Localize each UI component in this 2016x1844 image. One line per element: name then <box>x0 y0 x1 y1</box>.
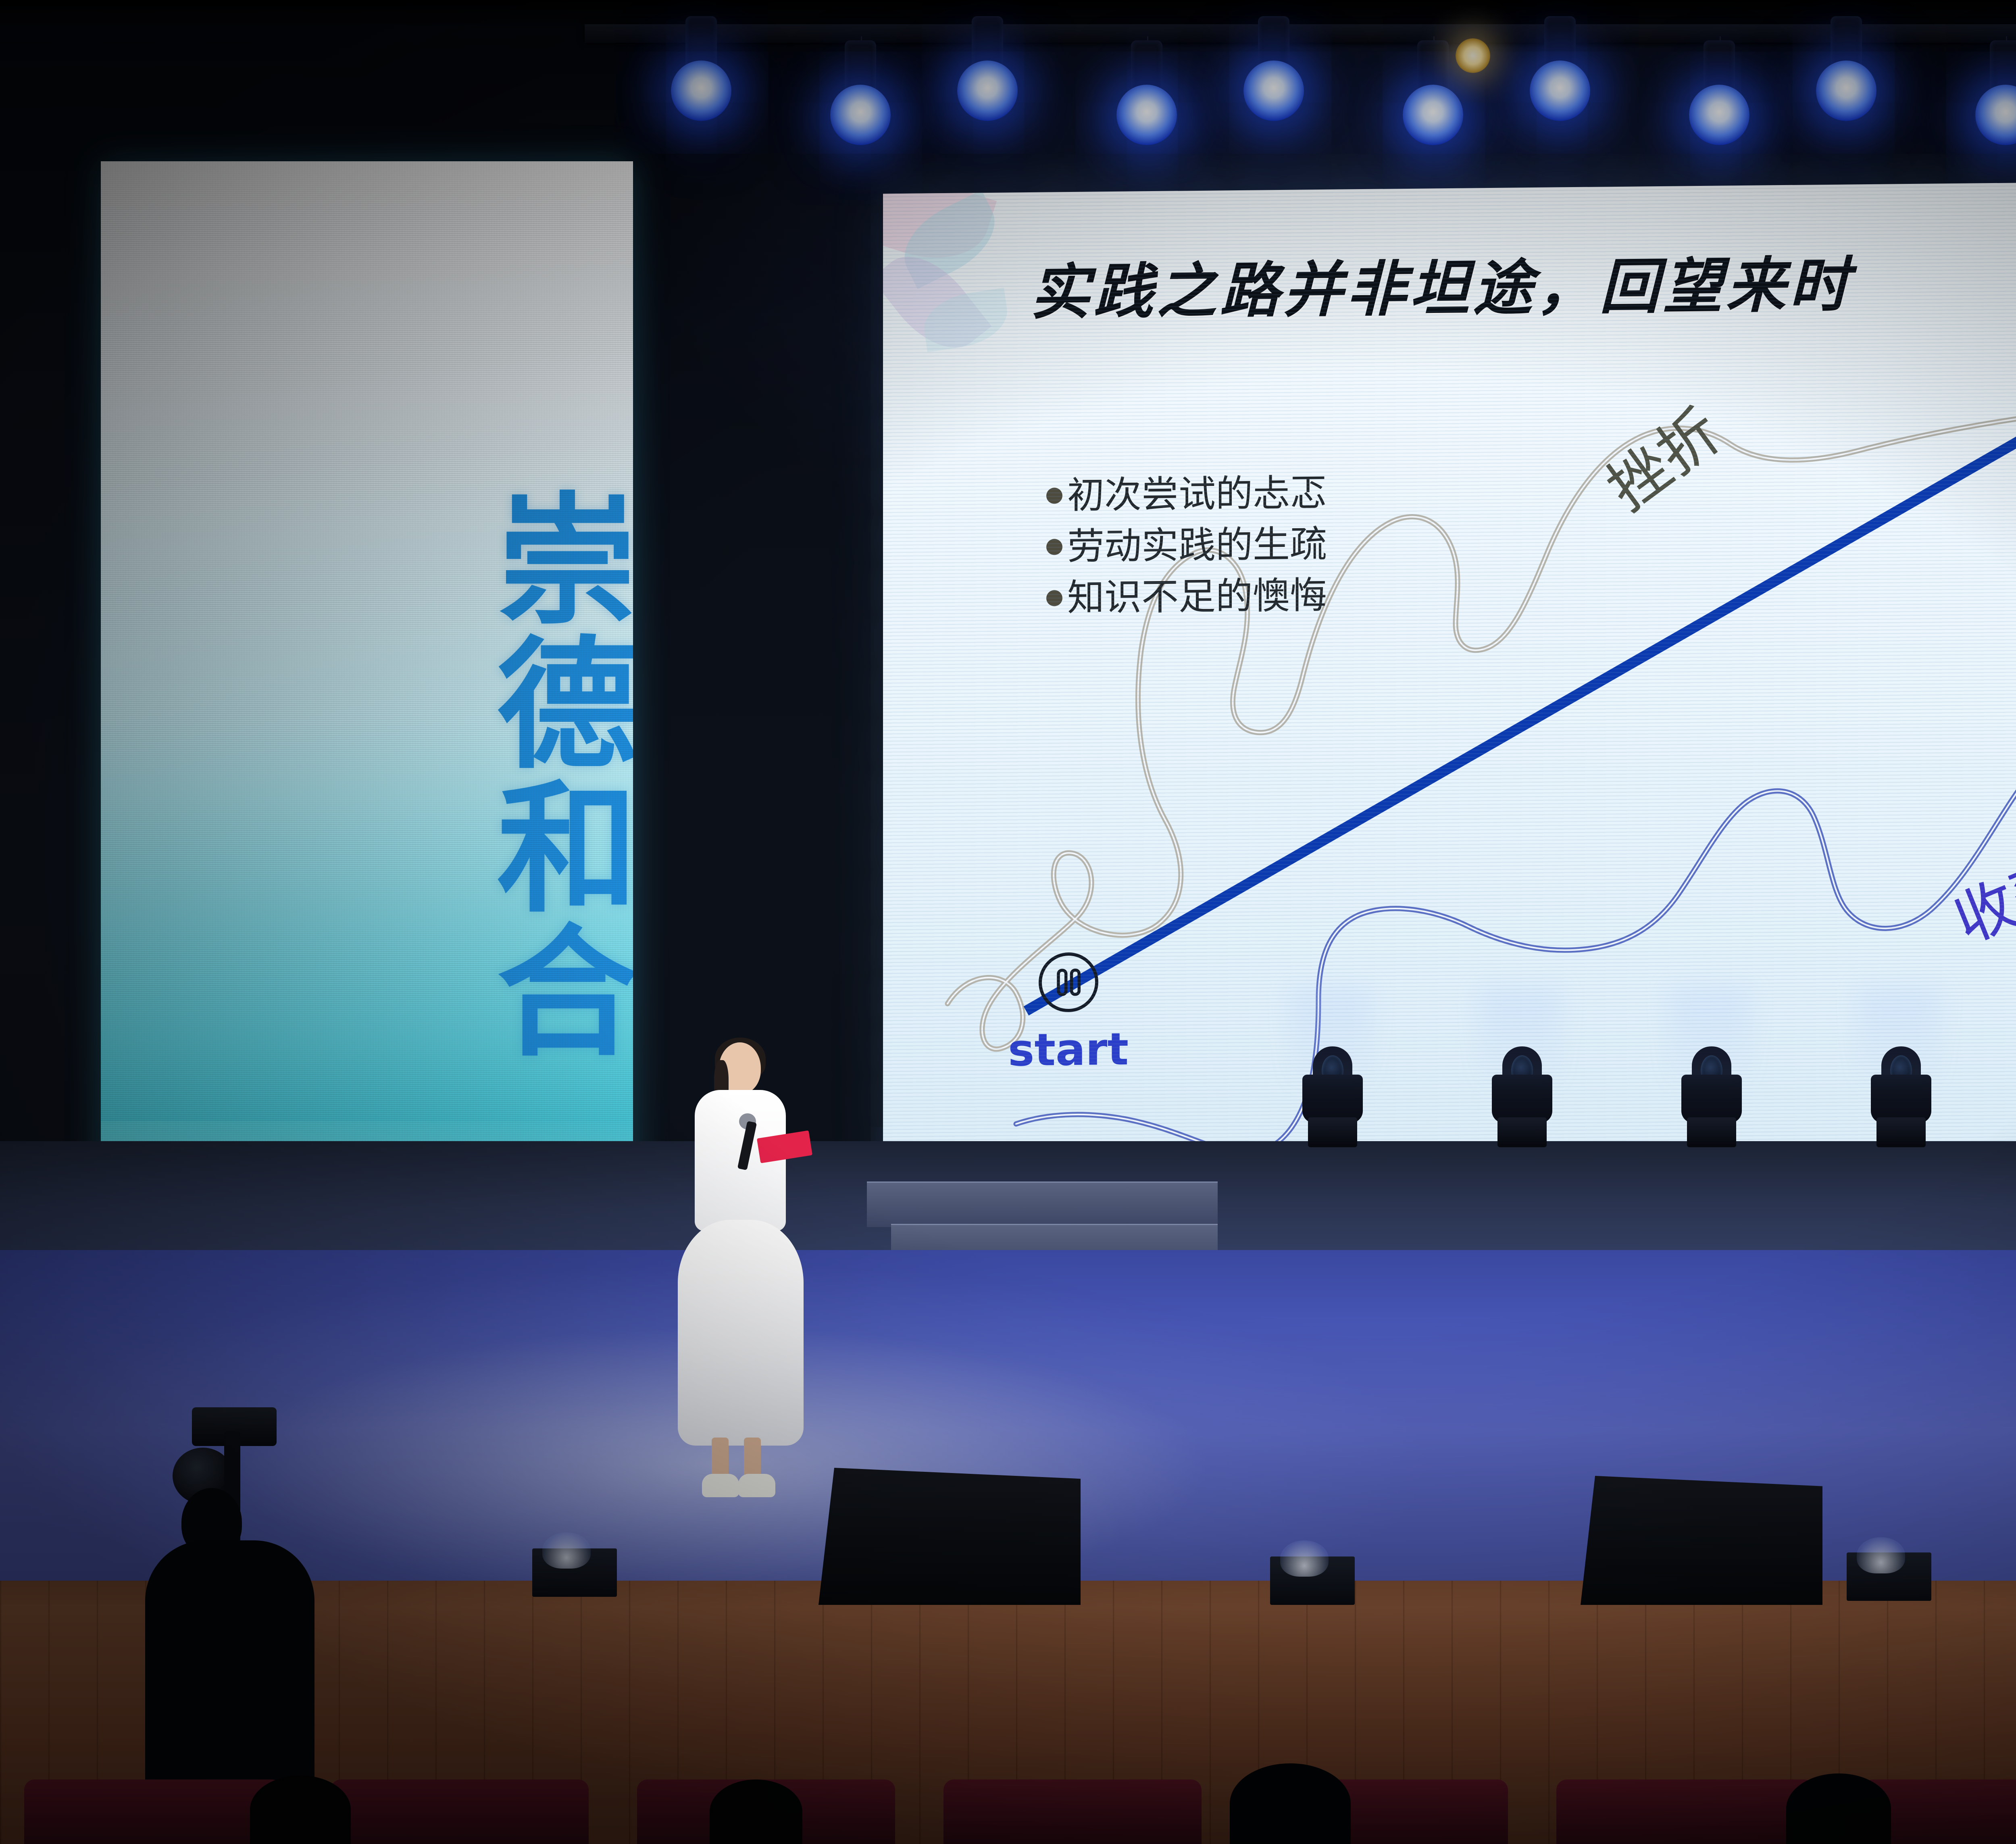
light-yoke <box>1681 1075 1742 1123</box>
moving-head-light <box>1681 1046 1742 1147</box>
overhead-light-rig <box>0 0 2016 169</box>
list-item-label: 知识不足的懊悔 <box>1067 570 1327 624</box>
stage-monitor-speaker <box>1581 1476 1822 1605</box>
light-yoke <box>1492 1075 1552 1123</box>
blue-wash-light <box>1530 60 1590 121</box>
footlight-glow <box>1280 1540 1329 1577</box>
list-item: 初次尝试的忐忑 <box>1046 468 1327 522</box>
presenter <box>663 1042 816 1498</box>
moving-head-light <box>1871 1046 1931 1147</box>
audience-seat <box>24 1779 282 1844</box>
blue-wash-light <box>671 60 731 121</box>
light-base <box>1876 1117 1926 1147</box>
moving-head-light <box>1302 1046 1363 1147</box>
audience-foreground <box>0 1722 2016 1844</box>
bullet-dot-icon <box>1046 590 1062 606</box>
start-marker: start <box>1008 950 1129 1076</box>
light-base <box>1497 1117 1547 1147</box>
list-item: 知识不足的懊悔 <box>1046 570 1327 624</box>
presenter-skirt <box>678 1220 804 1446</box>
audience-seat <box>331 1779 589 1844</box>
audience-seat <box>943 1779 1202 1844</box>
presenter-shoe <box>702 1474 739 1497</box>
pause-circle-icon <box>1036 950 1101 1015</box>
bullet-dot-icon <box>1046 488 1062 504</box>
blue-wash-light <box>1403 85 1463 145</box>
slide-title: 实践之路并非坦途，回望来时 <box>1030 236 1852 331</box>
light-yoke <box>1871 1075 1931 1123</box>
setback-bullet-list: 初次尝试的忐忑劳动实践的生疏知识不足的懊悔 <box>1046 468 1327 624</box>
list-item-label: 初次尝试的忐忑 <box>1067 468 1327 521</box>
audience-head-silhouette <box>250 1775 351 1844</box>
light-base <box>1687 1117 1736 1147</box>
blue-wash-light <box>1116 85 1177 145</box>
moving-head-light <box>1492 1046 1552 1147</box>
blue-wash-light <box>830 85 891 145</box>
stage-monitor-speaker <box>818 1468 1081 1605</box>
presenter-shoe <box>738 1474 775 1497</box>
blue-wash-light <box>1243 60 1304 121</box>
bullet-dot-icon <box>1046 539 1062 555</box>
stage-presentation-scene: 崇德和合 <box>0 0 2016 1844</box>
main-projection-screen: 实践之路并非坦途，回望来时 初次尝试的忐忑劳动实践的生疏知识不足的懊悔 深耕实践… <box>883 176 2016 1174</box>
presentation-slide: 实践之路并非坦途，回望来时 初次尝试的忐忑劳动实践的生疏知识不足的懊悔 深耕实践… <box>883 176 2016 1174</box>
start-label: start <box>1008 1023 1129 1076</box>
list-item: 劳动实践的生疏 <box>1046 519 1327 573</box>
amber-spot-light <box>1456 38 1490 73</box>
blue-wash-light <box>1816 60 1876 121</box>
light-yoke <box>1302 1075 1363 1123</box>
footlight-glow <box>542 1532 591 1569</box>
light-base <box>1308 1117 1357 1147</box>
footlight-glow <box>1857 1537 1905 1573</box>
audience-head-silhouette <box>1786 1773 1891 1844</box>
audience-seat <box>1556 1779 1814 1844</box>
audience-head-silhouette <box>1230 1763 1351 1844</box>
blue-wash-light <box>1975 85 2016 145</box>
list-item-label: 劳动实践的生疏 <box>1067 519 1327 573</box>
blue-wash-light <box>957 60 1018 121</box>
blue-wash-light <box>1689 85 1749 145</box>
audience-head-silhouette <box>710 1779 802 1844</box>
